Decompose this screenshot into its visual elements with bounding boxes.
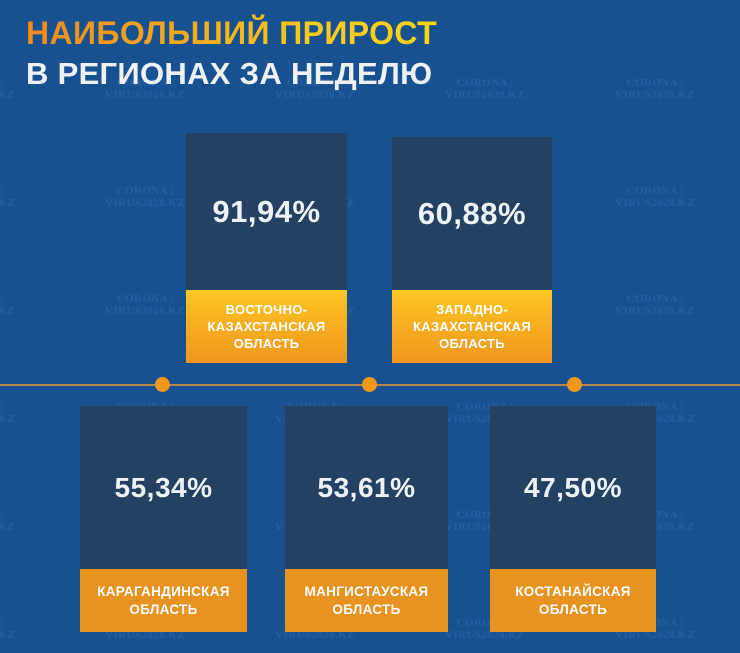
bar-label: КАРАГАНДИНСКАЯ ОБЛАСТЬ (80, 569, 247, 632)
watermark-text: CORONA |VIRUS2020.KZ (0, 402, 40, 426)
bar-label-line: ВОСТОЧНО- (226, 301, 308, 318)
bar-label-line: КАЗАХСТАНСКАЯ (413, 318, 531, 335)
watermark-line-1: CORONA | (0, 510, 40, 522)
bar-body: 47,50% (490, 406, 656, 569)
watermark-text: CORONA |VIRUS2020.KZ (420, 78, 550, 102)
watermark-line-1: CORONA | (0, 186, 40, 198)
watermark-line-1: CORONA | (0, 294, 40, 306)
bar-label-line: ЗАПАДНО- (436, 301, 508, 318)
watermark-line-1: CORONA | (0, 618, 40, 630)
watermark-line-2: VIRUS2020.KZ (0, 630, 40, 642)
watermark-line-2: VIRUS2020.KZ (0, 414, 40, 426)
watermark-line-2: VIRUS2020.KZ (0, 198, 40, 210)
watermark-line-2: VIRUS2020.KZ (0, 522, 40, 534)
bar-label-line: КОСТАНАЙСКАЯ (515, 583, 631, 601)
watermark-text: CORONA |VIRUS2020.KZ (0, 618, 40, 642)
bar-label: КОСТАНАЙСКАЯ ОБЛАСТЬ (490, 569, 656, 632)
divider-dot-2 (362, 377, 377, 392)
bar-body: 60,88% (392, 137, 552, 290)
bar-value: 47,50% (524, 472, 622, 504)
watermark-text: CORONA |VIRUS2020.KZ (590, 186, 720, 210)
bar-label-line: ОБЛАСТЬ (234, 335, 300, 352)
bar-kostanayskaya: 47,50% КОСТАНАЙСКАЯ ОБЛАСТЬ (490, 406, 656, 632)
bar-label-line: ОБЛАСТЬ (332, 601, 400, 619)
bar-label-line: ОБЛАСТЬ (129, 601, 197, 619)
watermark-text: CORONA |VIRUS2020.KZ (0, 294, 40, 318)
bar-label: ВОСТОЧНО- КАЗАХСТАНСКАЯ ОБЛАСТЬ (186, 290, 347, 363)
watermark-text: CORONA |VIRUS2020.KZ (590, 294, 720, 318)
watermark-line-2: VIRUS2020.KZ (420, 90, 550, 102)
watermark-text: CORONA |VIRUS2020.KZ (590, 78, 720, 102)
bar-label: ЗАПАДНО- КАЗАХСТАНСКАЯ ОБЛАСТЬ (392, 290, 552, 363)
bar-mangistauskaya: 53,61% МАНГИСТАУСКАЯ ОБЛАСТЬ (285, 406, 448, 632)
bar-body: 55,34% (80, 406, 247, 569)
watermark-line-2: VIRUS2020.KZ (590, 90, 720, 102)
watermark-text: CORONA |VIRUS2020.KZ (0, 510, 40, 534)
watermark-text: CORONA |VIRUS2020.KZ (0, 186, 40, 210)
bar-label-line: КАЗАХСТАНСКАЯ (208, 318, 326, 335)
divider-dot-1 (155, 377, 170, 392)
bar-label-line: ОБЛАСТЬ (539, 601, 607, 619)
watermark-line-1: CORONA | (0, 402, 40, 414)
divider-dot-3 (567, 377, 582, 392)
watermark-line-1: CORONA | (590, 186, 720, 198)
infographic-canvas: CORONA |VIRUS2020.KZCORONA |VIRUS2020.KZ… (0, 0, 740, 653)
watermark-line-1: CORONA | (420, 78, 550, 90)
title-line-1: НАИБОЛЬШИЙ ПРИРОСТ (26, 12, 437, 54)
bar-value: 53,61% (318, 472, 416, 504)
watermark-line-2: VIRUS2020.KZ (590, 306, 720, 318)
bar-body: 53,61% (285, 406, 448, 569)
bar-vostochno-kazahstanskaya: 91,94% ВОСТОЧНО- КАЗАХСТАНСКАЯ ОБЛАСТЬ (186, 133, 347, 363)
watermark-line-1: CORONA | (590, 294, 720, 306)
bar-value: 55,34% (115, 472, 213, 504)
bar-label-line: ОБЛАСТЬ (439, 335, 505, 352)
row-divider (0, 383, 740, 386)
watermark-line-1: CORONA | (590, 78, 720, 90)
bar-label-line: МАНГИСТАУСКАЯ (305, 583, 429, 601)
bar-body: 91,94% (186, 133, 347, 290)
watermark-line-2: VIRUS2020.KZ (590, 198, 720, 210)
bar-value: 91,94% (212, 194, 320, 230)
bar-label: МАНГИСТАУСКАЯ ОБЛАСТЬ (285, 569, 448, 632)
watermark-line-2: VIRUS2020.KZ (0, 306, 40, 318)
bar-zapadno-kazahstanskaya: 60,88% ЗАПАДНО- КАЗАХСТАНСКАЯ ОБЛАСТЬ (392, 137, 552, 363)
page-title: НАИБОЛЬШИЙ ПРИРОСТ В РЕГИОНАХ ЗА НЕДЕЛЮ (26, 12, 437, 94)
bar-label-line: КАРАГАНДИНСКАЯ (97, 583, 230, 601)
bar-karagandinskaya: 55,34% КАРАГАНДИНСКАЯ ОБЛАСТЬ (80, 406, 247, 632)
bar-value: 60,88% (418, 196, 526, 232)
title-line-2: В РЕГИОНАХ ЗА НЕДЕЛЮ (26, 54, 437, 94)
